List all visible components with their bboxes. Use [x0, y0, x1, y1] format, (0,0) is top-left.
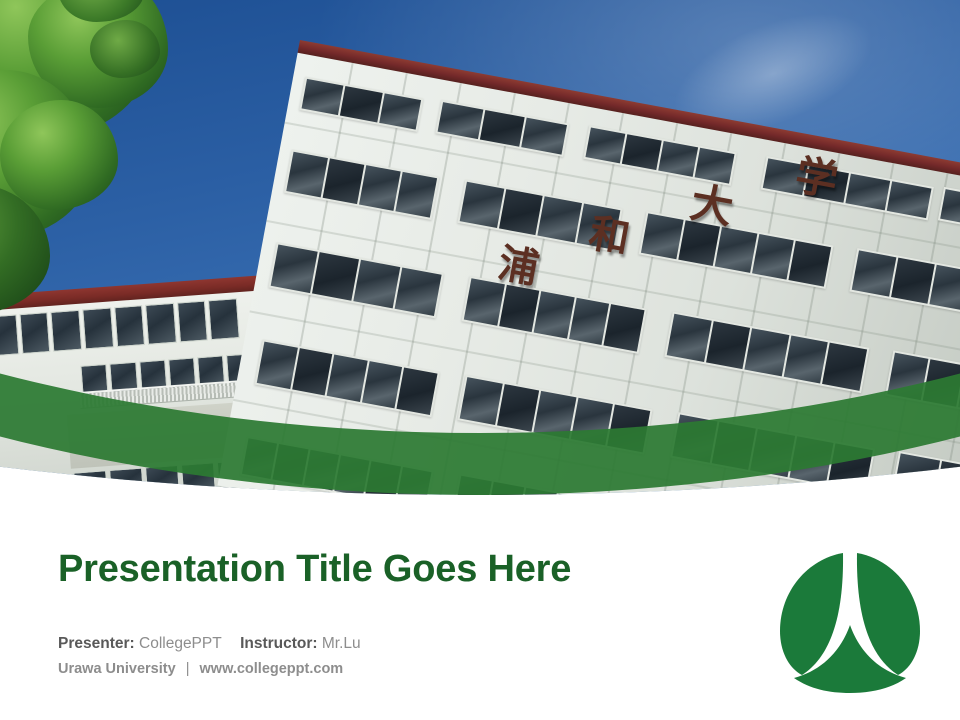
window-pane [537, 196, 581, 242]
window-pane [667, 314, 712, 362]
window-pane [672, 415, 717, 463]
window-band [885, 350, 960, 415]
presenter-name: CollegePPT [139, 635, 221, 652]
window-band [284, 149, 440, 220]
window-pane [499, 189, 543, 235]
window-pane [340, 86, 382, 122]
window-pane [569, 298, 610, 345]
window-pane [852, 250, 896, 296]
instructor-label: Instructor: [240, 635, 318, 652]
window-pane [395, 267, 442, 316]
window-pane [641, 213, 683, 259]
window-pane [312, 252, 359, 301]
instructor-name: Mr.Lu [322, 635, 361, 652]
window-pane [534, 391, 577, 439]
website-link[interactable]: www.collegeppt.com [200, 661, 344, 677]
page-title: Presentation Title Goes Here [58, 548, 571, 591]
window-pane [520, 488, 557, 520]
window-pane [242, 438, 277, 479]
window-band [938, 187, 960, 237]
window-band [639, 211, 834, 289]
window-pane [397, 368, 438, 415]
window-pane [327, 355, 368, 402]
window-pane [362, 361, 403, 408]
window-pane [292, 348, 333, 395]
hero-photo: 浦和大学 [0, 0, 960, 520]
window-pane [395, 172, 437, 218]
campus-photograph: 浦和大学 [0, 0, 960, 520]
window-pane [257, 342, 298, 389]
window-pane [706, 321, 751, 369]
building-sign-character: 学 [792, 154, 841, 203]
window-pane [789, 436, 834, 484]
window-pane [711, 422, 756, 470]
building-sign-character: 和 [586, 213, 633, 260]
window-pane [585, 127, 625, 163]
window-pane [334, 455, 369, 496]
window-pane [845, 174, 890, 211]
logo-icon [770, 535, 930, 695]
window-pane [304, 450, 339, 491]
window-pane [887, 353, 928, 400]
window-pane [658, 141, 698, 177]
text-separator: | [180, 661, 196, 677]
window-pane [534, 291, 575, 338]
window-pane [497, 384, 540, 432]
window-pane [487, 482, 524, 520]
window-pane [379, 93, 421, 129]
university-logo [770, 535, 930, 695]
window-pane [750, 429, 795, 477]
foreground-tree [0, 0, 230, 350]
window-pane [271, 244, 318, 293]
building-sign-character: 浦 [495, 243, 542, 290]
window-pane [923, 359, 960, 406]
window-pane [929, 265, 960, 311]
presenter-line: Presenter: CollegePPT Instructor: Mr.Lu [58, 636, 361, 652]
window-pane [585, 500, 622, 520]
window-pane [887, 181, 932, 218]
presenter-label: Presenter: [58, 635, 135, 652]
window-pane [302, 79, 344, 115]
window-pane [822, 343, 867, 391]
window-pane [522, 118, 567, 155]
window-pane [480, 110, 525, 147]
window-pane [677, 515, 714, 520]
window-pane [745, 328, 790, 376]
window-band [664, 311, 869, 393]
window-pane [617, 506, 654, 520]
window-pane [273, 444, 308, 485]
window-pane [940, 189, 960, 226]
window-pane [460, 377, 503, 425]
window-band [435, 100, 569, 157]
window-pane [396, 467, 431, 508]
window-pane [715, 227, 757, 273]
window-pane [608, 405, 651, 453]
window-pane [323, 158, 365, 204]
window-pane [438, 102, 483, 139]
window-band [583, 125, 737, 186]
window-pane [460, 182, 504, 228]
window-band [891, 451, 960, 512]
building-sign-character: 大 [687, 181, 736, 230]
window-pane [789, 241, 831, 287]
window-pane [353, 260, 400, 309]
window-pane [571, 398, 614, 446]
window-pane [359, 165, 401, 211]
window-band [457, 375, 652, 455]
window-pane [622, 134, 662, 170]
window-band [760, 156, 933, 220]
window-pane [552, 494, 589, 520]
organization-line: Urawa University | www.collegeppt.com [58, 662, 343, 677]
window-pane [891, 258, 935, 304]
window-band [254, 339, 439, 417]
window-band [461, 276, 646, 354]
organization-name: Urawa University [58, 661, 176, 677]
presentation-slide: 浦和大学 Presentation Title Goes Here Presen… [0, 0, 960, 720]
window-pane [455, 476, 492, 517]
window-pane [604, 304, 645, 351]
window-band [268, 242, 444, 318]
window-pane [828, 443, 873, 491]
window-pane [286, 152, 328, 198]
window-pane [893, 453, 940, 502]
window-pane [752, 234, 794, 280]
window-pane [365, 461, 400, 502]
window-band [675, 513, 879, 520]
window-pane [784, 335, 829, 383]
